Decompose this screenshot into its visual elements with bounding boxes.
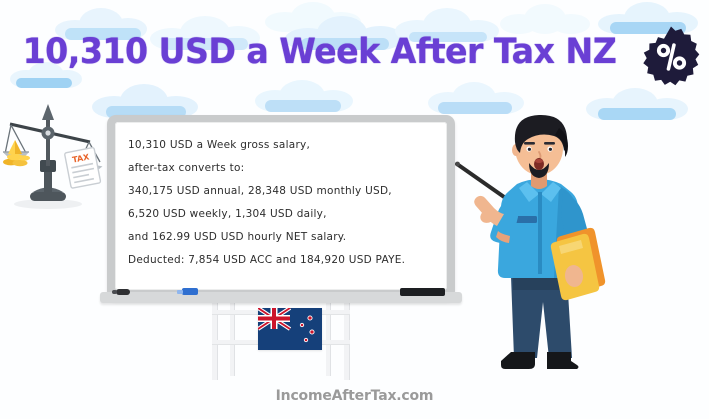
page-title: 10,310 USD a Week After Tax NZ: [23, 35, 617, 70]
page-title-row: 10,310 USD a Week After Tax NZ: [0, 26, 709, 78]
whiteboard-surface: 10,310 USD a Week gross salary, after-ta…: [115, 122, 447, 290]
teacher-character: [455, 108, 620, 376]
poster-canvas: 10,310 USD a Week After Tax NZ: [0, 0, 709, 419]
whiteboard-text: 10,310 USD a Week gross salary, after-ta…: [128, 134, 439, 272]
whiteboard: 10,310 USD a Week gross salary, after-ta…: [107, 115, 455, 300]
black-marker-icon: [116, 289, 130, 295]
balance-scales-icon: TAX: [2, 100, 110, 212]
new-zealand-flag: [258, 308, 322, 350]
board-line-1: 10,310 USD a Week gross salary,: [128, 134, 439, 157]
percent-badge-icon: [640, 25, 702, 87]
cloud-icon: [255, 80, 353, 112]
board-line-2: after-tax converts to:: [128, 157, 439, 180]
board-line-4: 6,520 USD weekly, 1,304 USD daily,: [128, 203, 439, 226]
board-line-5: and 162.99 USD USD hourly NET salary.: [128, 226, 439, 249]
board-line-3: 340,175 USD annual, 28,348 USD monthly U…: [128, 180, 439, 203]
site-footer: IncomeAfterTax.com: [0, 388, 709, 404]
eraser-icon: [400, 288, 445, 296]
blue-marker-icon: [182, 288, 198, 295]
board-line-6: Deducted: 7,854 USD ACC and 184,920 USD …: [128, 249, 439, 272]
